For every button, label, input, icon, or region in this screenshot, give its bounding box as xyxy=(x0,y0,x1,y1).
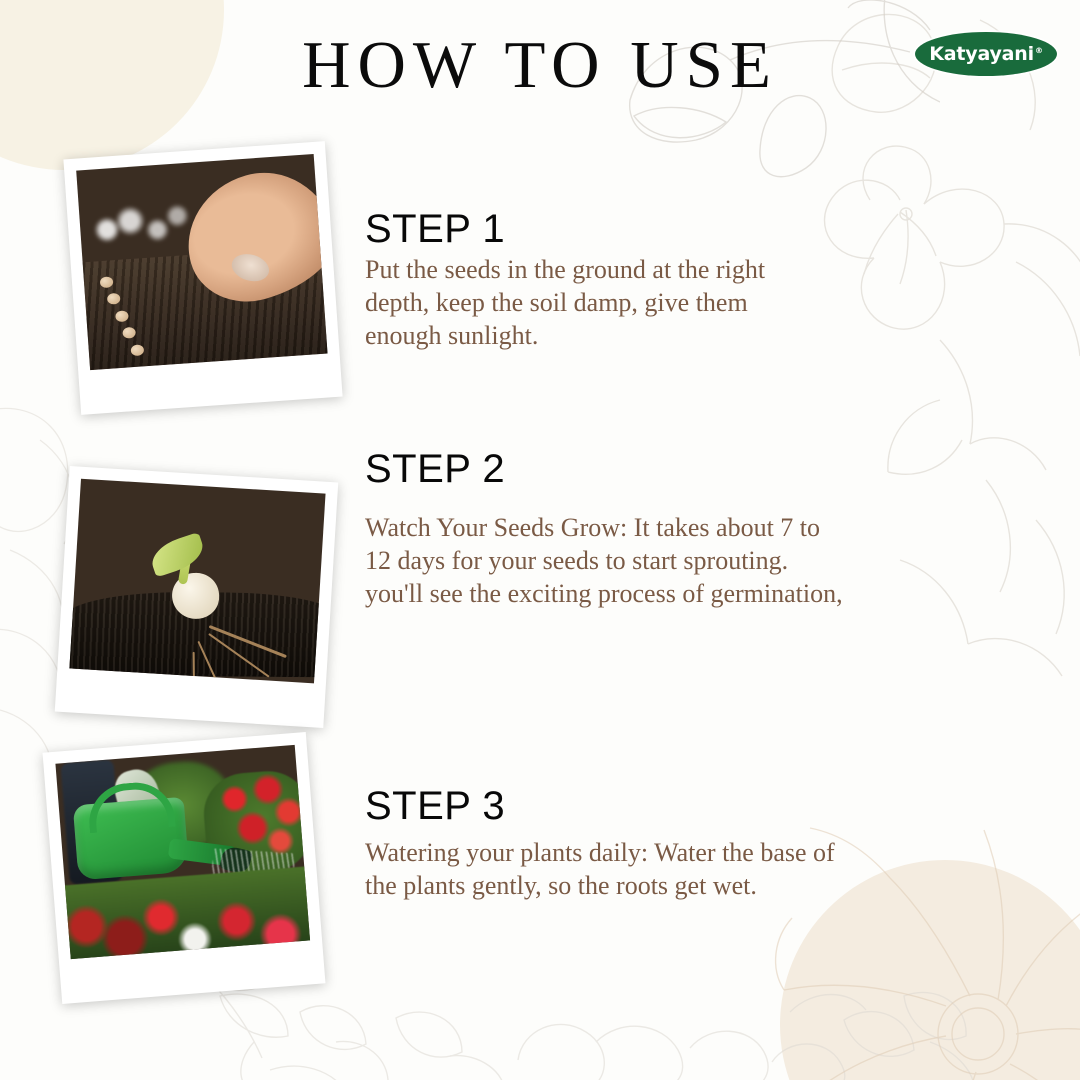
page-title: HOW TO USE xyxy=(0,32,1080,99)
watering-flowers-photo xyxy=(55,745,310,959)
seed-row xyxy=(98,268,185,361)
step-block-3: STEP 3 Watering your plants daily: Water… xyxy=(365,785,835,903)
registered-trademark-icon: ® xyxy=(1035,46,1043,55)
logo-brand-text: Katyayani® xyxy=(929,43,1043,65)
step-2-body: Watch Your Seeds Grow: It takes about 7 … xyxy=(365,512,843,610)
katyayani-logo[interactable]: Katyayani® xyxy=(915,32,1057,76)
hand-sowing-seeds-photo xyxy=(76,154,327,370)
step-3-title: STEP 3 xyxy=(365,785,835,827)
step-block-1: STEP 1 Put the seeds in the ground at th… xyxy=(365,208,765,352)
step-block-2: STEP 2 Watch Your Seeds Grow: It takes a… xyxy=(365,448,843,610)
how-to-use-infographic: HOW TO USE Katyayani® xyxy=(0,0,1080,1080)
polaroid-frame-step-3 xyxy=(43,732,326,1004)
step-3-body: Watering your plants daily: Water the ba… xyxy=(365,837,835,903)
polaroid-frame-step-2 xyxy=(55,466,339,728)
logo-brand-name: Katyayani xyxy=(929,43,1034,65)
step-1-body: Put the seeds in the ground at the right… xyxy=(365,254,765,352)
germinating-sprout-photo xyxy=(69,479,325,684)
step-2-title: STEP 2 xyxy=(365,448,843,490)
root-4 xyxy=(192,652,194,683)
polaroid-frame-step-1 xyxy=(63,141,342,415)
sprout-leaf xyxy=(147,532,208,578)
step-1-title: STEP 1 xyxy=(365,208,765,250)
